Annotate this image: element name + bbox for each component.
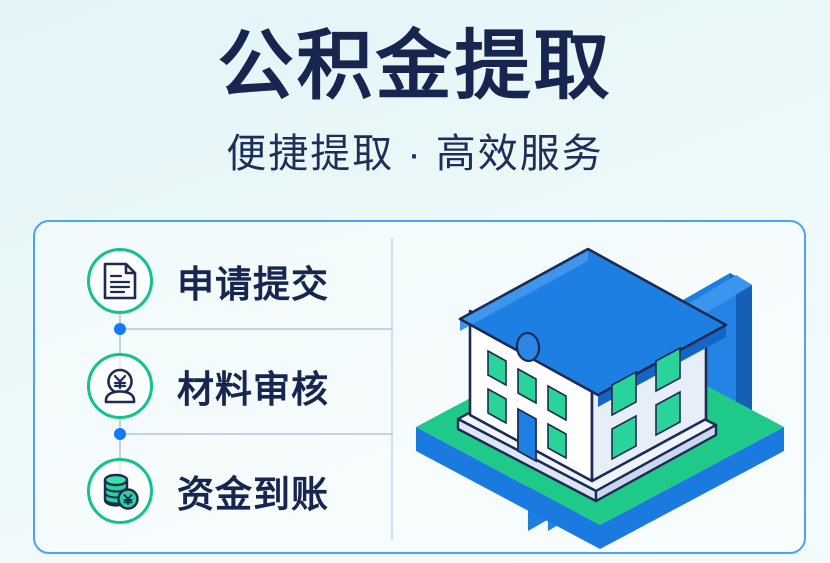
step-label: 资金到账 bbox=[177, 464, 329, 518]
coin-stack-icon bbox=[87, 458, 153, 524]
steps-list: 申请提交 材料审核 bbox=[35, 222, 391, 554]
step-label: 材料审核 bbox=[177, 359, 329, 413]
process-panel: 申请提交 材料审核 bbox=[33, 220, 806, 554]
step-item-application-submit[interactable]: 申请提交 bbox=[87, 244, 329, 318]
page-header: 公积金提取 便捷提取 · 高效服务 bbox=[0, 0, 830, 210]
house-and-bank-card-illustration bbox=[391, 222, 806, 554]
page-title: 公积金提取 bbox=[218, 24, 613, 109]
step-label: 申请提交 bbox=[177, 254, 329, 308]
document-icon bbox=[87, 248, 153, 314]
yen-review-icon bbox=[87, 353, 153, 419]
page-subtitle: 便捷提取 · 高效服务 bbox=[226, 121, 604, 179]
step-item-material-review[interactable]: 材料审核 bbox=[87, 349, 329, 423]
step-item-funds-received[interactable]: 资金到账 bbox=[87, 454, 329, 528]
